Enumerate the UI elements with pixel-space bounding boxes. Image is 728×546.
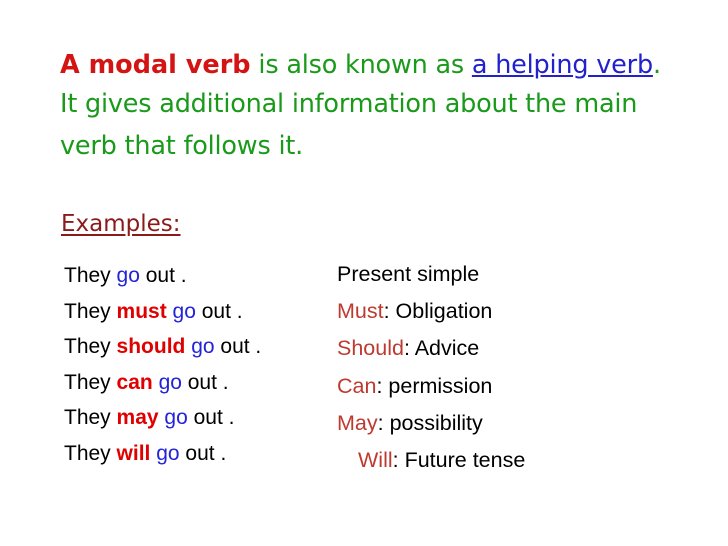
sentence-subject: They <box>64 406 117 429</box>
sentence-main-verb: go <box>117 264 140 287</box>
helping-verb-link[interactable]: a helping verb <box>472 50 653 80</box>
meaning-modal-name: Will <box>358 448 393 472</box>
modal-meaning-row: Should: Advice <box>337 330 525 367</box>
sentence-tail: out . <box>188 406 235 429</box>
sentence-subject: They <box>64 371 117 394</box>
sentence-main-verb: go <box>164 406 187 429</box>
meaning-modal-name: Can <box>337 374 376 398</box>
meaning-text: permission <box>388 374 492 398</box>
sentence-main-verb: go <box>173 300 196 323</box>
example-sentence-row: They may go out . <box>64 400 261 436</box>
meaning-modal-name: May <box>337 411 378 435</box>
meaning-separator: : <box>404 336 415 360</box>
meaning-separator: : <box>378 411 390 435</box>
sentence-modal: should <box>117 335 192 358</box>
meaning-text: Advice <box>415 336 480 360</box>
modal-meaning-row: Must: Obligation <box>337 293 525 330</box>
meaning-modal-name: Should <box>337 336 404 360</box>
definition-line-3: verb that follows it. <box>60 129 700 163</box>
modal-meaning-row: Will: Future tense <box>337 442 525 479</box>
meaning-separator: : <box>384 299 396 323</box>
sentence-subject: They <box>64 442 117 465</box>
example-sentence-row: They must go out . <box>64 294 261 330</box>
sentence-main-verb: go <box>191 335 214 358</box>
sentence-tail: out . <box>196 300 243 323</box>
meaning-text: Obligation <box>396 299 493 323</box>
example-sentence-row: They will go out . <box>64 436 261 472</box>
modal-meanings-column: Present simple Must: Obligation Should: … <box>337 256 525 479</box>
sentence-main-verb: go <box>156 442 179 465</box>
example-sentence-row: They can go out . <box>64 365 261 401</box>
slide-canvas: A modal verb is also known as a helping … <box>0 0 728 546</box>
sentence-modal: will <box>117 442 157 465</box>
meaning-text: Future tense <box>405 448 526 472</box>
sentence-subject: They <box>64 264 117 287</box>
modal-meaning-row: Can: permission <box>337 368 525 405</box>
definition-paragraph: A modal verb is also known as a helping … <box>60 48 700 163</box>
modal-meaning-row: Present simple <box>337 256 525 293</box>
modal-meaning-row: May: possibility <box>337 405 525 442</box>
example-sentence-row: They should go out . <box>64 329 261 365</box>
sentence-modal: may <box>117 406 165 429</box>
modal-verb-term: A modal verb <box>60 50 251 80</box>
example-sentence-row: They go out . <box>64 258 261 294</box>
meaning-modal-name: Must <box>337 299 384 323</box>
meaning-separator: : <box>376 374 388 398</box>
examples-label: Examples: <box>61 209 181 239</box>
sentence-tail: out . <box>182 371 229 394</box>
definition-line-2: It gives additional information about th… <box>60 87 700 121</box>
meaning-text: Present simple <box>337 262 479 286</box>
sentence-modal: can <box>117 371 159 394</box>
example-sentences-column: They go out . They must go out . They sh… <box>64 258 261 471</box>
meaning-text: possibility <box>390 411 483 435</box>
sentence-main-verb: go <box>159 371 182 394</box>
definition-period: . <box>653 50 661 80</box>
meaning-separator: : <box>393 448 405 472</box>
sentence-tail: out . <box>215 335 262 358</box>
sentence-tail: out . <box>180 442 227 465</box>
sentence-subject: They <box>64 335 117 358</box>
sentence-tail: out . <box>140 264 187 287</box>
definition-mid-text: is also known as <box>251 50 472 80</box>
sentence-subject: They <box>64 300 117 323</box>
sentence-modal: must <box>117 300 173 323</box>
